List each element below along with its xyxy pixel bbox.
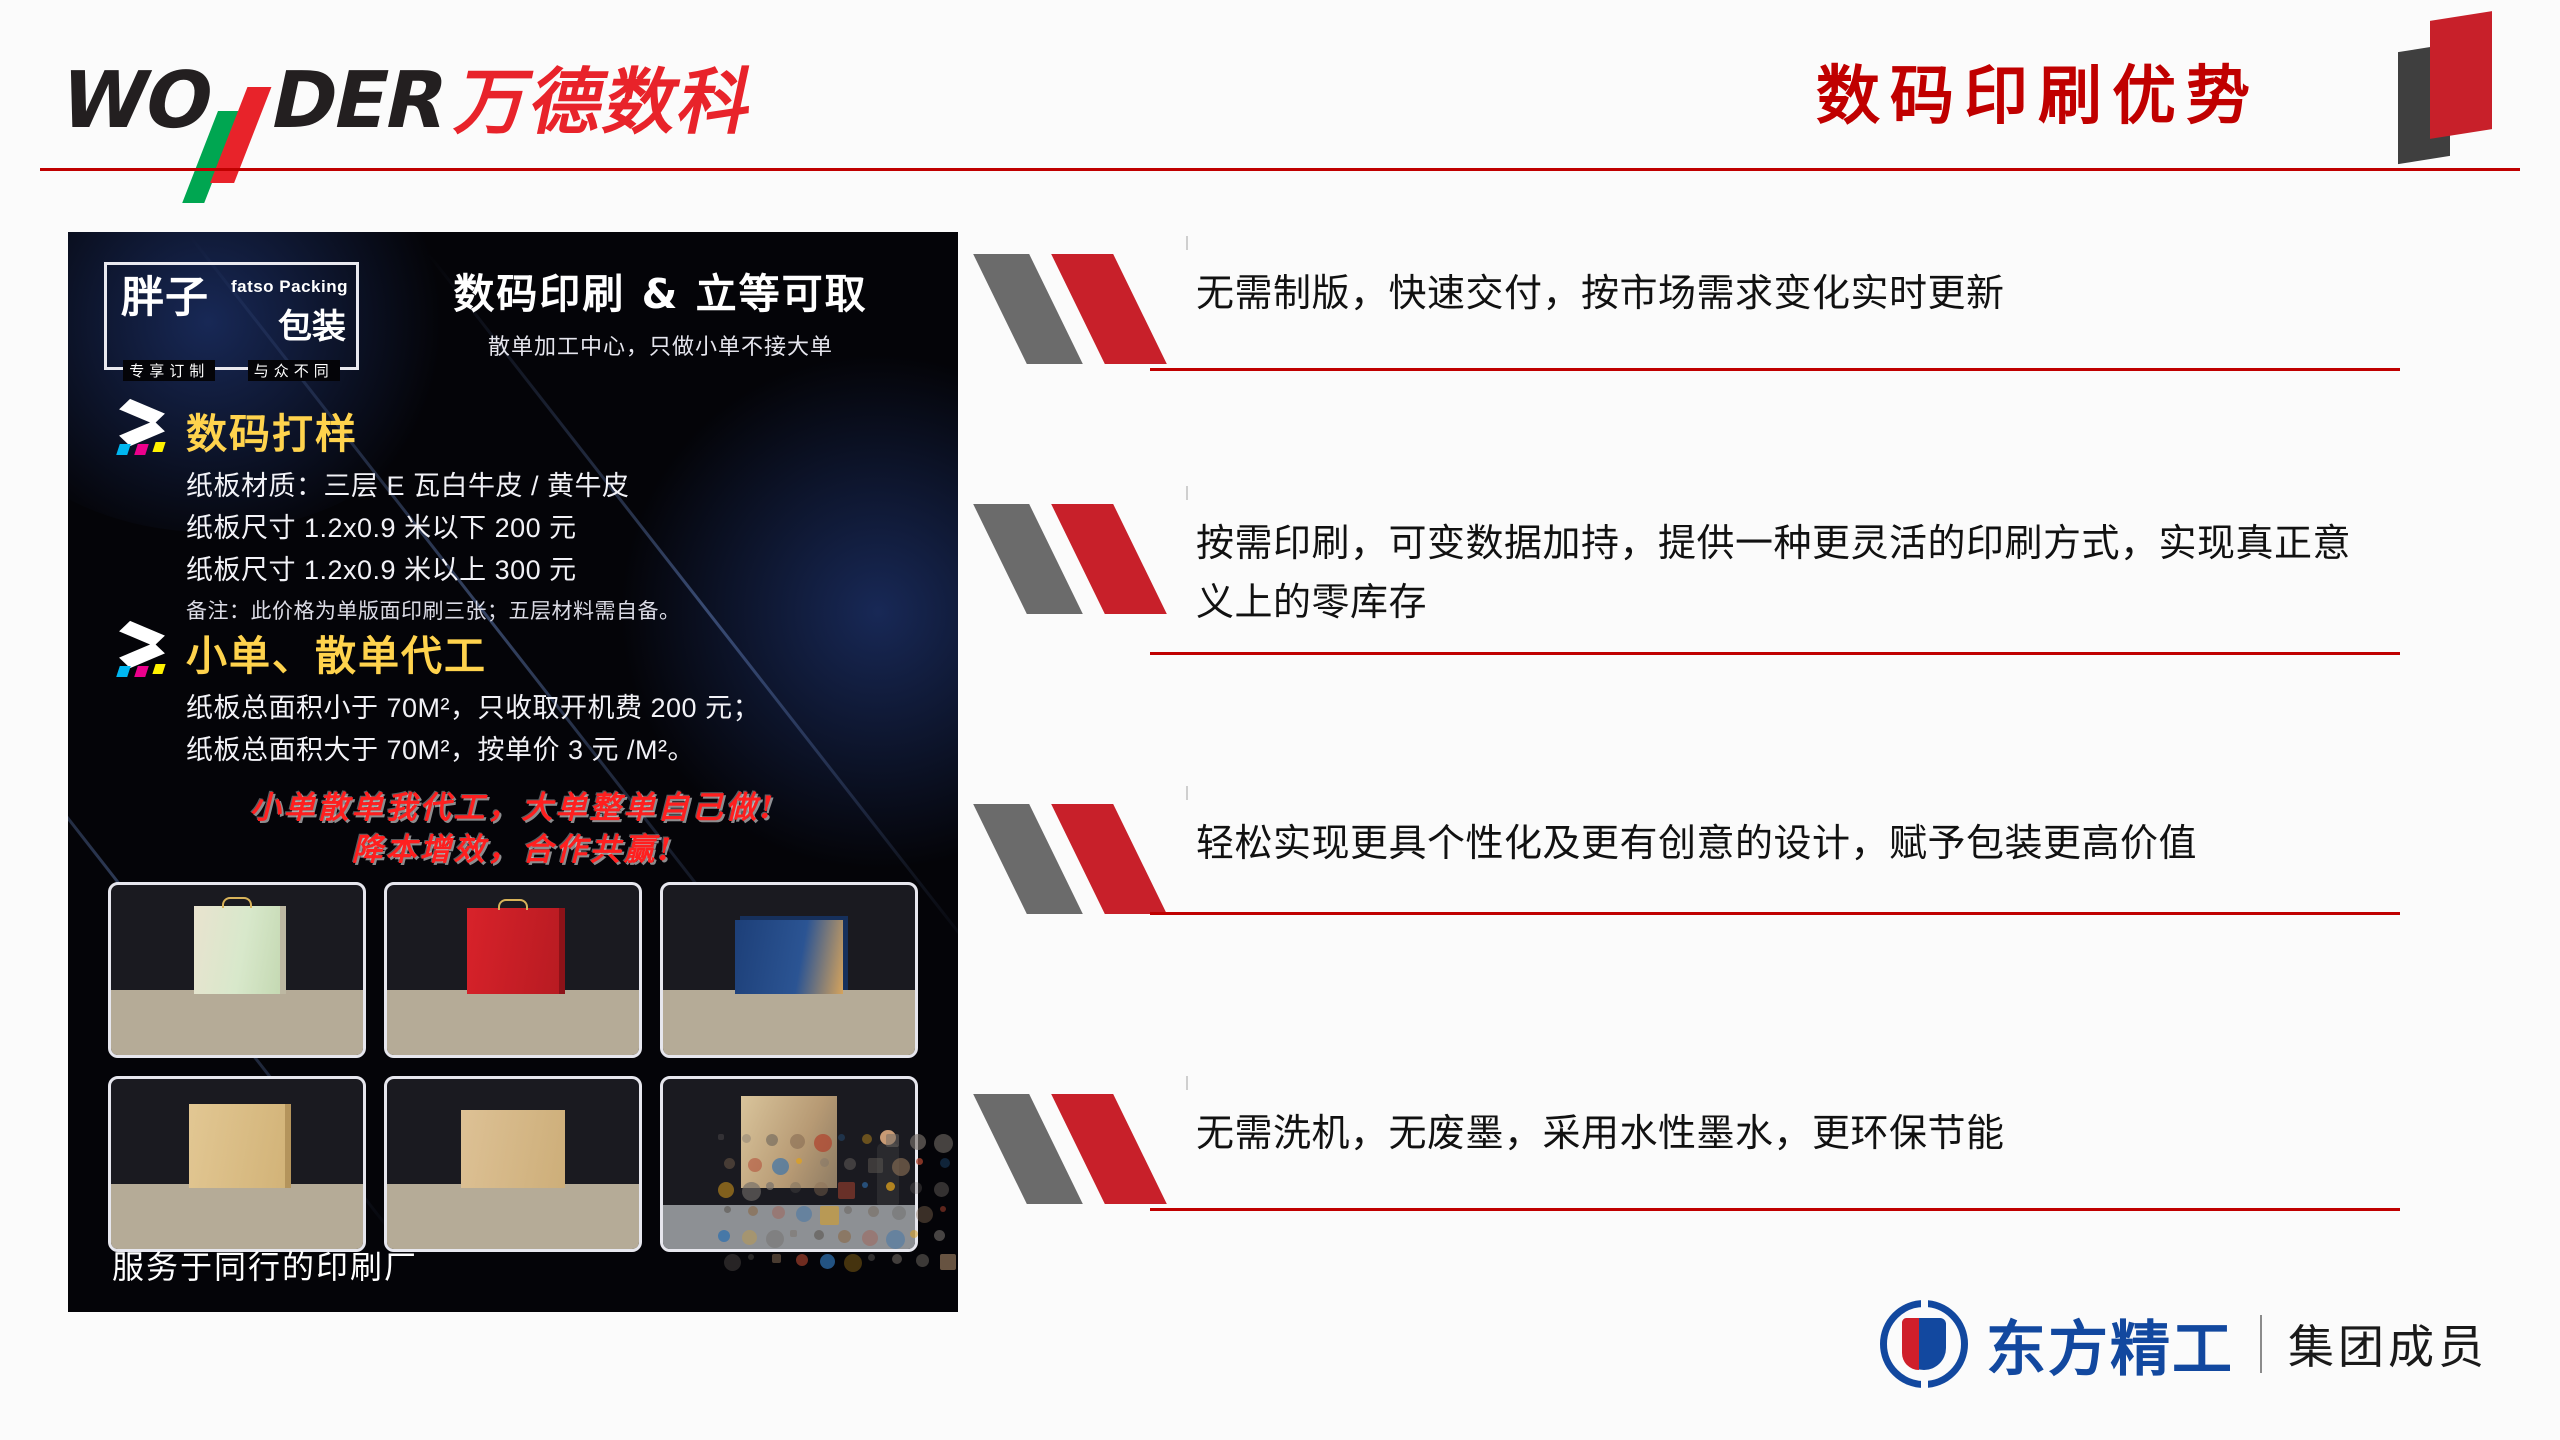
poster-slogan: 小单散单我代工，大单整单自己做! 降本增效，合作共赢!	[68, 788, 958, 872]
bullet-tick-mark	[1186, 486, 1188, 500]
advantage-item: 按需印刷，可变数据加持，提供一种更灵活的印刷方式，实现真正意义上的零库存	[1000, 500, 2450, 800]
wonder-wordmark: WO DER	[54, 62, 453, 140]
advantage-text: 无需洗机，无废墨，采用水性墨水，更环保节能	[1196, 1104, 2386, 1163]
fatso-logo-english-text: fatso Packing	[231, 277, 348, 297]
promo-poster-image: 胖子 fatso Packing 包装 专享订制 与众不同 数码印刷 & 立等可…	[68, 232, 958, 1312]
poster-section-1-line-3: 纸板尺寸 1.2x0.9 米以上 300 元	[186, 550, 681, 592]
poster-section-1-title: 数码打样	[186, 400, 358, 460]
advantage-text: 按需印刷，可变数据加持，提供一种更灵活的印刷方式，实现真正意义上的零库存	[1196, 514, 2386, 632]
bullet-chevron-icon	[1000, 1094, 1190, 1204]
poster-slogan-line-1: 小单散单我代工，大单整单自己做!	[68, 788, 958, 830]
advantages-list: 无需制版，快速交付，按市场需求变化实时更新 按需印刷，可变数据加持，提供一种更灵…	[1000, 250, 2450, 1340]
fatso-logo-main-text: 胖子	[121, 277, 209, 320]
advantage-text: 轻松实现更具个性化及更有创意的设计，赋予包装更高价值	[1196, 814, 2386, 873]
fatso-logo-sub-text: 包装	[278, 299, 346, 348]
product-photo-honey-gift-box	[108, 882, 366, 1058]
bullet-chevron-icon	[1000, 804, 1190, 914]
product-photo-kraft-handle-box	[108, 1076, 366, 1252]
footer-company-name: 东方精工	[1986, 1301, 2234, 1388]
footer-member-label: 集团成员	[2288, 1311, 2488, 1377]
wonder-wordmark-part-wo: WO	[54, 62, 219, 140]
product-photo-classic-kraft-gift-set	[384, 1076, 642, 1252]
bullet-tick-mark	[1186, 236, 1188, 250]
poster-slogan-line-2: 降本增效，合作共赢!	[68, 830, 958, 872]
advantage-item: 无需制版，快速交付，按市场需求变化实时更新	[1000, 250, 2450, 500]
wonder-wordmark-part-der: DER	[264, 62, 453, 140]
fatso-logo-taglines: 专享订制 与众不同	[107, 360, 356, 381]
bullet-chevron-icon	[1000, 254, 1190, 364]
poster-section-digital-proofing: 数码打样 纸板材质：三层 E 瓦白牛皮 / 黄牛皮 纸板尺寸 1.2x0.9 米…	[112, 400, 681, 628]
poster-section-2-line-1: 纸板总面积小于 70M²，只收取开机费 200 元；	[186, 688, 760, 730]
slide-header: WO DER 万德数科 数码印刷优势	[0, 0, 2560, 170]
page-title: 数码印刷优势	[1816, 62, 2260, 132]
fatso-packing-logo: 胖子 fatso Packing 包装 专享订制 与众不同	[104, 262, 359, 370]
product-photo-red-meat-gift-box	[384, 882, 642, 1058]
poster-section-2-lines: 纸板总面积小于 70M²，只收取开机费 200 元； 纸板总面积大于 70M²，…	[186, 688, 760, 772]
poster-section-2-line-2: 纸板总面积大于 70M²，按单价 3 元 /M²。	[186, 730, 760, 772]
poster-footer-text: 服务于同行的印刷厂	[112, 1242, 418, 1288]
advantage-item: 轻松实现更具个性化及更有创意的设计，赋予包装更高价值	[1000, 800, 2450, 1090]
chevron-arrow-icon	[112, 624, 186, 680]
poster-section-1-line-1: 纸板材质：三层 E 瓦白牛皮 / 黄牛皮	[186, 466, 681, 508]
poster-headline-block: 数码印刷 & 立等可取 散单加工中心，只做小单不接大单	[398, 270, 923, 361]
advantage-text: 无需制版，快速交付，按市场需求变化实时更新	[1196, 264, 2386, 323]
corner-decoration-red-shape	[2430, 11, 2492, 139]
poster-section-1-lines: 纸板材质：三层 E 瓦白牛皮 / 黄牛皮 纸板尺寸 1.2x0.9 米以下 20…	[186, 466, 681, 628]
wonder-brand-logo: WO DER 万德数科	[54, 62, 763, 140]
bullet-chevron-icon	[1000, 504, 1190, 614]
poster-headline: 数码印刷 & 立等可取	[398, 270, 923, 319]
poster-section-1-header: 数码打样	[112, 400, 681, 460]
dongfang-jingong-shield-icon	[1880, 1300, 1968, 1388]
product-photo-blue-beef-noodle-carton	[660, 882, 918, 1058]
slide-footer: 东方精工 集团成员	[1880, 1300, 2488, 1388]
poster-section-small-order-oem: 小单、散单代工 纸板总面积小于 70M²，只收取开机费 200 元； 纸板总面积…	[112, 622, 760, 772]
footer-divider	[2260, 1315, 2262, 1373]
bullet-tick-mark	[1186, 786, 1188, 800]
poster-section-2-header: 小单、散单代工	[112, 622, 760, 682]
advantage-underline	[1150, 368, 2400, 371]
poster-subheadline: 散单加工中心，只做小单不接大单	[398, 329, 923, 361]
advantage-underline	[1150, 1208, 2400, 1211]
fatso-logo-tag-left: 专享订制	[123, 360, 215, 381]
chevron-arrow-icon	[112, 402, 186, 458]
advantage-underline	[1150, 912, 2400, 915]
poster-section-2-title: 小单、散单代工	[186, 622, 487, 682]
wonder-brand-chinese: 万德数科	[451, 66, 762, 138]
advantage-underline	[1150, 652, 2400, 655]
header-divider	[40, 168, 2520, 171]
poster-dot-pattern-decoration	[718, 1134, 958, 1284]
corner-decoration-icon	[2398, 10, 2498, 160]
bullet-tick-mark	[1186, 1076, 1188, 1090]
poster-section-1-line-2: 纸板尺寸 1.2x0.9 米以下 200 元	[186, 508, 681, 550]
fatso-logo-tag-right: 与众不同	[248, 360, 340, 381]
